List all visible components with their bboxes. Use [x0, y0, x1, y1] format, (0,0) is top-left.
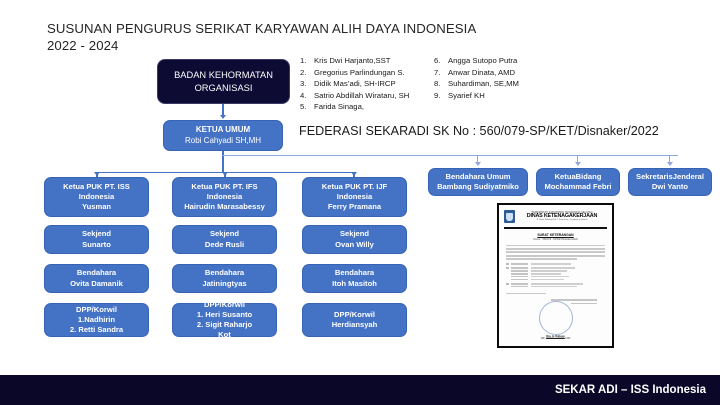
scanned-document-image[interactable]: PEMERINTAH KABUPATEN TANGERANG SELATAN D… [497, 203, 614, 348]
officer-name: Mochammad Febri [544, 182, 611, 192]
document-field-row [511, 286, 606, 288]
connector-arrow [94, 172, 100, 176]
member-number: 6. [434, 55, 448, 67]
officer-title: Bendahara Umum [446, 172, 511, 182]
puk-head-box-iss[interactable]: Ketua PUK PT. ISS Indonesia Yusman [44, 177, 149, 217]
puk-bendahara-box-iss[interactable]: Bendahara Ovita Damanik [44, 264, 149, 293]
member-name: Anwar Dinata, AMD [448, 67, 515, 79]
list-item: 2. Gregorius Parlindungan S. [300, 67, 409, 79]
officer-name: Dwi Yanto [652, 182, 688, 192]
dpp-title: DPP/Korwil [204, 300, 245, 310]
connector-arrow [667, 162, 673, 166]
bendahara-title: Bendahara [205, 268, 244, 278]
officer-name: Bambang Sudiyatmiko [437, 182, 519, 192]
officer-box-ketua-bidang[interactable]: KetuaBidang Mochammad Febri [536, 168, 620, 196]
document-subject: SURAT KETERANGAN Nomor : 560/079 - SP/KE… [499, 233, 612, 241]
connector-arrow [220, 115, 226, 119]
puk-sekjend-box-ijf[interactable]: Sekjend Ovan Willy [302, 225, 407, 254]
government-emblem-icon [504, 210, 515, 223]
slide-canvas: SUSUNAN PENGURUS SERIKAT KARYAWAN ALIH D… [0, 0, 720, 405]
sekjend-title: Sekjend [82, 229, 111, 239]
document-page: PEMERINTAH KABUPATEN TANGERANG SELATAN D… [499, 205, 612, 346]
sekjend-name: Dede Rusli [205, 240, 244, 250]
document-field-row [511, 276, 606, 278]
document-field-row [511, 283, 606, 285]
document-field-row [511, 270, 606, 272]
member-number: 7. [434, 67, 448, 79]
page-title: SUSUNAN PENGURUS SERIKAT KARYAWAN ALIH D… [47, 20, 476, 54]
document-field-row [511, 279, 606, 281]
connector-bus-officers [222, 155, 678, 156]
document-signer-nip: NIP. 19650411 199003 2 003 [499, 338, 612, 340]
member-name: Satrio Abdillah Wirataru, SH [314, 90, 409, 102]
list-item: 6. Angga Sutopo Putra [434, 55, 519, 67]
member-number: 3. [300, 78, 314, 90]
list-item: 3. Didik Mas’adi, SH-IRCP [300, 78, 409, 90]
member-column-2: 6. Angga Sutopo Putra 7. Anwar Dinata, A… [434, 55, 519, 101]
connector-badan-to-ketua [222, 104, 224, 115]
dpp-member-1: 1. Heri Susanto [197, 310, 252, 320]
sekjend-name: Ovan Willy [335, 240, 374, 250]
puk-head-name: Ferry Pramana [328, 202, 381, 212]
honorary-board-line1: BADAN KEHORMATAN [174, 69, 273, 82]
officer-box-sekretaris-jenderal[interactable]: SekretarisJenderal Dwi Yanto [628, 168, 712, 196]
bendahara-name: Jatiningtyas [202, 279, 246, 289]
bendahara-title: Bendahara [335, 268, 374, 278]
member-column-1: 1. Kris Dwi Harjanto,SST 2. Gregorius Pa… [300, 55, 409, 113]
federation-note: FEDERASI SEKARADI SK No : 560/079-SP/KET… [299, 124, 659, 138]
honorary-board-line2: ORGANISASI [195, 82, 253, 95]
list-item: 1. Kris Dwi Harjanto,SST [300, 55, 409, 67]
document-title: SURAT KETERANGAN [499, 233, 612, 237]
member-name: Gregorius Parlindungan S. [314, 67, 405, 79]
member-name: Angga Sutopo Putra [448, 55, 517, 67]
bendahara-name: Itoh Masitoh [332, 279, 377, 289]
ketua-umum-title: KETUA UMUM [196, 125, 250, 135]
document-numbered-item [506, 263, 605, 266]
puk-head-box-ifs[interactable]: Ketua PUK PT. IFS Indonesia Hairudin Mar… [172, 177, 277, 217]
officer-box-bendahara-umum[interactable]: Bendahara Umum Bambang Sudiyatmiko [428, 168, 528, 196]
list-item: 9. Syarief KH [434, 90, 519, 102]
puk-sekjend-box-iss[interactable]: Sekjend Sunarto [44, 225, 149, 254]
document-field-row [511, 273, 606, 275]
list-item: 8. Suhardiman, SE,MM [434, 78, 519, 90]
puk-head-name: Yusman [82, 202, 111, 212]
puk-head-name: Hairudin Marasabessy [184, 202, 265, 212]
member-name: Didik Mas’adi, SH-IRCP [314, 78, 396, 90]
bendahara-title: Bendahara [77, 268, 116, 278]
document-signer-role [571, 303, 597, 305]
list-item: 5. Farida Sinaga, [300, 101, 409, 113]
puk-bendahara-box-ifs[interactable]: Bendahara Jatiningtyas [172, 264, 277, 293]
puk-head-line2: Indonesia [207, 192, 242, 202]
puk-head-line2: Indonesia [337, 192, 372, 202]
footer-label: SEKAR ADI – ISS Indonesia [555, 384, 706, 396]
dpp-member-2: 2. Retti Sandra [70, 325, 123, 335]
document-text-line [506, 258, 577, 260]
member-number: 1. [300, 55, 314, 67]
dpp-member-2: 2. Sigit Raharjo [197, 320, 252, 330]
officer-title: KetuaBidang [555, 172, 602, 182]
member-number: 2. [300, 67, 314, 79]
puk-dpp-box-ijf[interactable]: DPP/Korwil Herdiansyah [302, 303, 407, 337]
honorary-board-box[interactable]: BADAN KEHORMATAN ORGANISASI [157, 59, 290, 104]
connector-arrow [475, 162, 481, 166]
puk-head-box-ijf[interactable]: Ketua PUK PT. IJF Indonesia Ferry Praman… [302, 177, 407, 217]
puk-dpp-box-iss[interactable]: DPP/Korwil 1.Nadhirin 2. Retti Sandra [44, 303, 149, 337]
dpp-title: DPP/Korwil [334, 310, 375, 320]
document-agency-title: PEMERINTAH KABUPATEN TANGERANG SELATAN D… [517, 212, 607, 222]
list-item: 4. Satrio Abdillah Wirataru, SH [300, 90, 409, 102]
dpp-member-1: 1.Nadhirin [78, 315, 115, 325]
puk-head-line1: Ketua PUK PT. ISS [63, 182, 130, 192]
puk-head-line1: Ketua PUK PT. IJF [322, 182, 387, 192]
document-divider-thin [504, 228, 607, 229]
member-number: 8. [434, 78, 448, 90]
document-field-row [511, 267, 606, 269]
document-field-row [511, 263, 606, 265]
member-number: 9. [434, 90, 448, 102]
bendahara-name: Ovita Damanik [70, 279, 123, 289]
document-numbered-item [506, 283, 605, 289]
member-name: Suhardiman, SE,MM [448, 78, 519, 90]
connector-arrow [351, 172, 357, 176]
member-number: 4. [300, 90, 314, 102]
connector-arrow [222, 172, 228, 176]
document-header: PEMERINTAH KABUPATEN TANGERANG SELATAN D… [499, 205, 612, 225]
puk-dpp-box-ifs[interactable]: DPP/Korwil 1. Heri Susanto 2. Sigit Raha… [172, 303, 277, 337]
document-signer: Dra. H. Rahayu NIP. 19650411 199003 2 00… [499, 335, 612, 340]
sekjend-title: Sekjend [210, 229, 239, 239]
dpp-member-1: Herdiansyah [332, 320, 378, 330]
document-stamp-icon [539, 301, 573, 335]
member-number: 5. [300, 101, 314, 113]
member-name: Syarief KH [448, 90, 485, 102]
document-text-line [506, 245, 605, 247]
document-address: Jl. Raya Siliwangi No. 1 Pamulang - Tang… [517, 219, 607, 221]
member-name: Kris Dwi Harjanto,SST [314, 55, 390, 67]
dpp-title: DPP/Korwil [76, 305, 117, 315]
document-text-line [506, 293, 546, 295]
connector-arrow [575, 162, 581, 166]
puk-head-line1: Ketua PUK PT. IFS [191, 182, 257, 192]
document-numbered-item [506, 267, 605, 281]
puk-head-line2: Indonesia [79, 192, 114, 202]
footer-bar: SEKAR ADI – ISS Indonesia [0, 375, 720, 405]
document-text-line [506, 248, 605, 250]
sekjend-title: Sekjend [340, 229, 369, 239]
member-name: Farida Sinaga, [314, 101, 364, 113]
document-text-line [506, 251, 605, 253]
document-body [499, 241, 612, 305]
ketua-umum-box[interactable]: KETUA UMUM Robi Cahyadi SH,MH [163, 120, 283, 151]
document-text-line [506, 255, 605, 257]
puk-sekjend-box-ifs[interactable]: Sekjend Dede Rusli [172, 225, 277, 254]
sekjend-name: Sunarto [82, 240, 111, 250]
dpp-member-3: Kot [218, 330, 231, 340]
list-item: 7. Anwar Dinata, AMD [434, 67, 519, 79]
ketua-umum-name: Robi Cahyadi SH,MH [185, 136, 261, 146]
puk-bendahara-box-ijf[interactable]: Bendahara Itoh Masitoh [302, 264, 407, 293]
officer-title: SekretarisJenderal [636, 172, 704, 182]
